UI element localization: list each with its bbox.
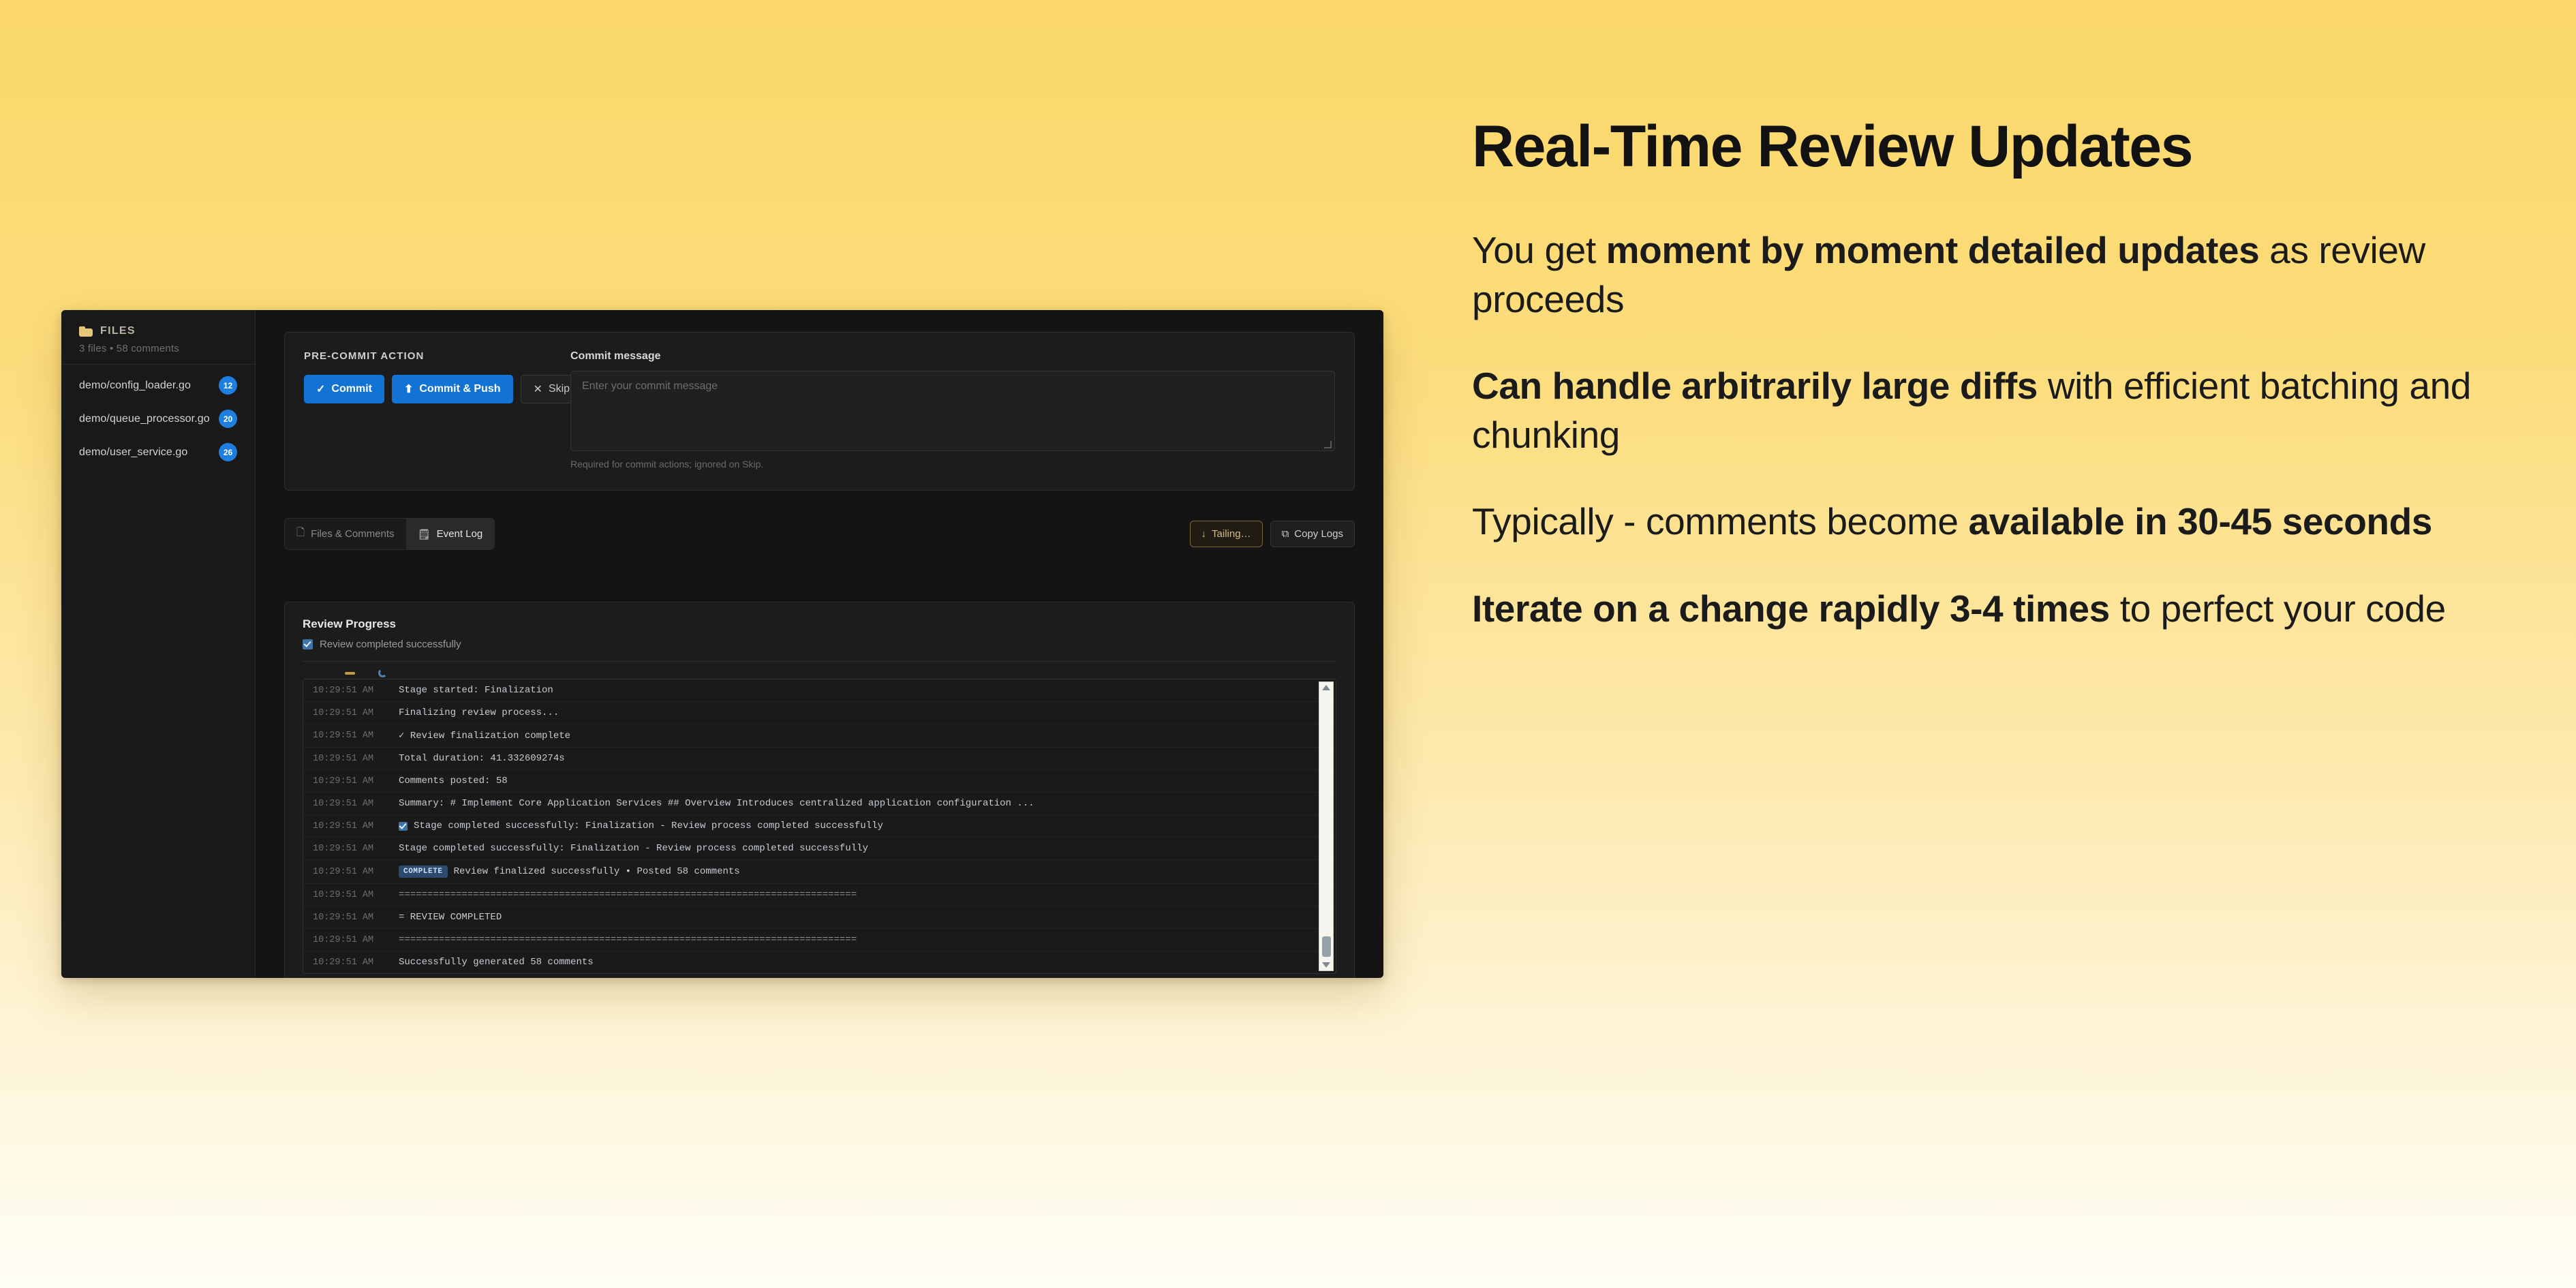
- body-text: to perfect your code: [2110, 587, 2446, 630]
- log-message: Summary: # Implement Core Application Se…: [399, 798, 1034, 809]
- log-timestamp: 10:29:51 AM: [313, 821, 384, 831]
- commit-message-hint: Required for commit actions; ignored on …: [570, 459, 1335, 470]
- log-message: Stage started: Finalization: [399, 685, 553, 696]
- button-label: Tailing…: [1212, 528, 1251, 540]
- body-paragraph: You get moment by moment detailed update…: [1472, 226, 2474, 324]
- stage-markers: [303, 662, 1336, 679]
- sidebar-title-row: FILES: [79, 325, 237, 337]
- log-line: 10:29:51 AMTotal duration: 41.332609274s: [303, 748, 1336, 770]
- body-paragraph: Can handle arbitrarily large diffs with …: [1472, 362, 2474, 459]
- log-message: Successfully generated 58 comments: [399, 957, 594, 968]
- log-line: 10:29:51 AMSummary: # Implement Core App…: [303, 793, 1336, 815]
- log-message-text: Stage completed successfully: Finalizati…: [414, 821, 883, 831]
- log-message-text: ✓ Review finalization complete: [399, 730, 570, 741]
- log-line: 10:29:51 AMCOMPLETEReview finalized succ…: [303, 860, 1336, 884]
- log-line: 10:29:51 AM=============================…: [303, 884, 1336, 906]
- log-message: ✓ Review finalization complete: [399, 730, 570, 741]
- folder-icon: [79, 326, 93, 337]
- emphasis-text: available in 30-45 seconds: [1968, 500, 2432, 542]
- button-label: Skip: [549, 383, 570, 395]
- stage-dash-icon: [345, 672, 355, 675]
- log-timestamp: 10:29:51 AM: [313, 957, 384, 968]
- body-paragraph: Typically - comments become available in…: [1472, 497, 2474, 547]
- log-message: ========================================…: [399, 934, 857, 945]
- log-line: 10:29:51 AMStage completed successfully:…: [303, 815, 1336, 838]
- log-line: 10:29:51 AM✓ Review finalization complet…: [303, 724, 1336, 748]
- check-icon: [399, 822, 408, 831]
- log-message-text: ========================================…: [399, 889, 857, 900]
- button-label: Commit & Push: [419, 383, 500, 395]
- sidebar-title: FILES: [100, 325, 136, 337]
- log-message: Stage completed successfully: Finalizati…: [399, 843, 868, 854]
- main-area: PRE-COMMIT ACTION ✓Commit⬆Commit & Push✕…: [256, 310, 1383, 978]
- log-timestamp: 10:29:51 AM: [313, 731, 384, 741]
- log-timestamp: 10:29:51 AM: [313, 686, 384, 696]
- sidebar-divider: [61, 364, 255, 365]
- scroll-up-icon[interactable]: [1322, 685, 1330, 690]
- tab-list: 🗋Files & Comments🗒Event Log: [284, 518, 495, 550]
- cloud-upload-icon: ⬆: [404, 382, 413, 396]
- log-message-text: Review finalized successfully • Posted 5…: [454, 866, 740, 877]
- log-line: 10:29:51 AMSuccessfully generated 58 com…: [303, 951, 1336, 973]
- status-badge: COMPLETE: [399, 865, 448, 878]
- file-list: demo/config_loader.go12demo/queue_proces…: [61, 369, 255, 469]
- page-title: Real-Time Review Updates: [1472, 116, 2474, 177]
- log-message: Comments posted: 58: [399, 776, 508, 786]
- tab-files-comments[interactable]: 🗋Files & Comments: [285, 519, 406, 549]
- log-action-buttons: ↓Tailing…⧉Copy Logs: [1190, 521, 1355, 547]
- log-message: Total duration: 41.332609274s: [399, 753, 565, 764]
- file-list-item[interactable]: demo/config_loader.go12: [61, 369, 255, 402]
- pre-commit-button-row: ✓Commit⬆Commit & Push✕Skip: [304, 375, 546, 403]
- copy-icon: ⧉: [1282, 528, 1289, 540]
- pre-commit-panel: PRE-COMMIT ACTION ✓Commit⬆Commit & Push✕…: [284, 332, 1355, 491]
- log-message: COMPLETEReview finalized successfully • …: [399, 865, 740, 878]
- log-timestamp: 10:29:51 AM: [313, 935, 384, 945]
- log-message-text: Stage completed successfully: Finalizati…: [399, 843, 868, 854]
- arrow-down-icon: ↓: [1201, 528, 1207, 540]
- log-message: Stage completed successfully: Finalizati…: [399, 821, 883, 831]
- button-label: Commit: [331, 383, 372, 395]
- sidebar-header: FILES 3 files • 58 comments: [61, 310, 255, 364]
- comment-count-badge: 26: [219, 443, 237, 461]
- commit-action-button[interactable]: ⬆Commit & Push: [392, 375, 513, 403]
- log-timestamp: 10:29:51 AM: [313, 913, 384, 923]
- tab-label: Files & Comments: [311, 528, 395, 540]
- commit-action-button[interactable]: ✓Commit: [304, 375, 384, 403]
- scroll-down-icon[interactable]: [1322, 962, 1330, 968]
- check-icon: [303, 639, 313, 649]
- scrollbar-thumb[interactable]: [1322, 936, 1331, 957]
- log-line: 10:29:51 AMComments posted: 58: [303, 770, 1336, 793]
- emphasis-text: Iterate on a change rapidly 3-4 times: [1472, 587, 2110, 630]
- log-scrollbar[interactable]: [1319, 681, 1334, 971]
- review-progress-title: Review Progress: [303, 617, 1336, 631]
- tailing-button[interactable]: ↓Tailing…: [1190, 521, 1263, 547]
- log-line-list: 10:29:51 AMStage started: Finalization10…: [303, 679, 1336, 973]
- log-message-text: Stage started: Finalization: [399, 685, 553, 696]
- log-line: 10:29:51 AM=============================…: [303, 929, 1336, 951]
- log-timestamp: 10:29:51 AM: [313, 867, 384, 877]
- tab-event-log[interactable]: 🗒Event Log: [406, 519, 495, 549]
- log-message: Finalizing review process...: [399, 707, 559, 718]
- file-name: demo/queue_processor.go: [79, 413, 210, 425]
- log-timestamp: 10:29:51 AM: [313, 776, 384, 786]
- file-list-item[interactable]: demo/queue_processor.go20: [61, 402, 255, 435]
- log-line: 10:29:51 AM= REVIEW COMPLETED: [303, 906, 1336, 929]
- comment-count-badge: 20: [219, 410, 237, 428]
- clipboard-icon: 🗒: [418, 528, 431, 540]
- file-list-item[interactable]: demo/user_service.go26: [61, 435, 255, 469]
- stage-spinner-icon: [378, 669, 387, 677]
- log-timestamp: 10:29:51 AM: [313, 799, 384, 809]
- close-icon: ✕: [534, 382, 542, 396]
- app-window: FILES 3 files • 58 comments demo/config_…: [61, 310, 1383, 978]
- tab-label: Event Log: [437, 528, 483, 540]
- review-progress-panel: Review Progress Review completed success…: [284, 602, 1355, 978]
- log-timestamp: 10:29:51 AM: [313, 844, 384, 854]
- commit-message-label: Commit message: [570, 350, 1335, 363]
- body-text: You get: [1472, 229, 1606, 271]
- log-message-text: Successfully generated 58 comments: [399, 957, 594, 968]
- comment-count-badge: 12: [219, 376, 237, 395]
- button-label: Copy Logs: [1294, 528, 1343, 540]
- slide: FILES 3 files • 58 comments demo/config_…: [0, 0, 2576, 1288]
- screenshot-column: FILES 3 files • 58 comments demo/config_…: [0, 0, 1445, 1288]
- event-log: 10:29:51 AMStage started: Finalization10…: [303, 679, 1336, 974]
- log-line: 10:29:51 AMStage completed successfully:…: [303, 838, 1336, 860]
- check-icon: ✓: [316, 382, 325, 396]
- log-line: 10:29:51 AMStage started: Finalization: [303, 679, 1336, 702]
- log-message-text: Comments posted: 58: [399, 776, 508, 786]
- review-progress-status-text: Review completed successfully: [320, 639, 461, 650]
- pre-commit-label: PRE-COMMIT ACTION: [304, 350, 546, 362]
- log-timestamp: 10:29:51 AM: [313, 754, 384, 764]
- body-text: Typically - comments become: [1472, 500, 1968, 542]
- log-message-text: Total duration: 41.332609274s: [399, 753, 565, 764]
- log-line: 10:29:51 AMFinalizing review process...: [303, 702, 1336, 724]
- log-timestamp: 10:29:51 AM: [313, 708, 384, 718]
- log-message-text: = REVIEW COMPLETED: [399, 912, 502, 923]
- log-message: = REVIEW COMPLETED: [399, 912, 502, 923]
- file-name: demo/config_loader.go: [79, 380, 191, 392]
- files-sidebar: FILES 3 files • 58 comments demo/config_…: [61, 310, 256, 978]
- file-name: demo/user_service.go: [79, 446, 187, 459]
- log-timestamp: 10:29:51 AM: [313, 890, 384, 900]
- tab-row: 🗋Files & Comments🗒Event Log ↓Tailing…⧉Co…: [284, 518, 1355, 550]
- files-icon: 🗋: [296, 525, 305, 542]
- emphasis-text: Can handle arbitrarily large diffs: [1472, 365, 2038, 407]
- log-message-text: ========================================…: [399, 934, 857, 945]
- copy-logs-button[interactable]: ⧉Copy Logs: [1270, 521, 1355, 547]
- log-message-text: Summary: # Implement Core Application Se…: [399, 798, 1034, 809]
- commit-message-input[interactable]: Enter your commit message: [570, 371, 1335, 451]
- pre-commit-actions: PRE-COMMIT ACTION ✓Commit⬆Commit & Push✕…: [304, 350, 546, 470]
- body-paragraph: Iterate on a change rapidly 3-4 times to…: [1472, 585, 2474, 634]
- log-message: ========================================…: [399, 889, 857, 900]
- emphasis-text: moment by moment detailed updates: [1606, 229, 2260, 271]
- review-progress-status: Review completed successfully: [303, 639, 1336, 650]
- paragraph-list: You get moment by moment detailed update…: [1472, 226, 2474, 633]
- copy-column: Real-Time Review Updates You get moment …: [1445, 0, 2576, 1288]
- sidebar-subtitle: 3 files • 58 comments: [79, 343, 237, 354]
- log-message-text: Finalizing review process...: [399, 707, 559, 718]
- commit-message-group: Commit message Enter your commit message…: [570, 350, 1335, 470]
